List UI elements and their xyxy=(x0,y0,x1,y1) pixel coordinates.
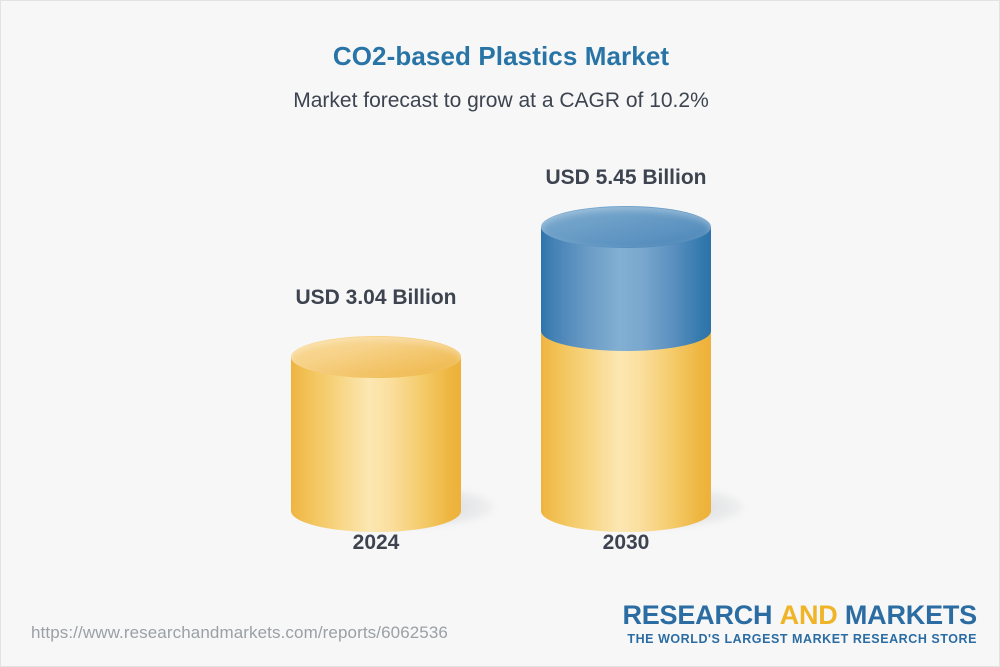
logo-word-markets: MARKETS xyxy=(845,600,977,630)
cylinder-body-2024 xyxy=(291,357,461,511)
category-label-2024: 2024 xyxy=(231,531,521,555)
cylinder-base-2030 xyxy=(541,490,711,532)
value-label-2030: USD 5.45 Billion xyxy=(481,166,771,190)
cylinder-base-2024 xyxy=(291,490,461,532)
logo-wordmark: RESEARCH AND MARKETS xyxy=(622,601,977,629)
cylinder-segment-divider-2030 xyxy=(541,311,711,351)
logo-word-and: AND xyxy=(780,600,838,630)
chart-canvas: CO2-based Plastics Market Market forecas… xyxy=(0,0,1000,667)
logo-tagline: THE WORLD'S LARGEST MARKET RESEARCH STOR… xyxy=(622,632,977,646)
report-url[interactable]: https://www.researchandmarkets.com/repor… xyxy=(31,623,448,643)
brand-logo[interactable]: RESEARCH AND MARKETS THE WORLD'S LARGEST… xyxy=(622,601,977,646)
plot-area: USD 3.04 Billion 2024 USD 5.45 Billion xyxy=(1,1,1000,601)
value-label-2024: USD 3.04 Billion xyxy=(231,286,521,310)
cylinder-cap-2024 xyxy=(291,336,461,378)
cylinder-cap-2030 xyxy=(541,206,711,248)
cylinder-segment-base-2030 xyxy=(541,331,711,511)
category-label-2030: 2030 xyxy=(481,531,771,555)
logo-word-research: RESEARCH xyxy=(622,600,772,630)
